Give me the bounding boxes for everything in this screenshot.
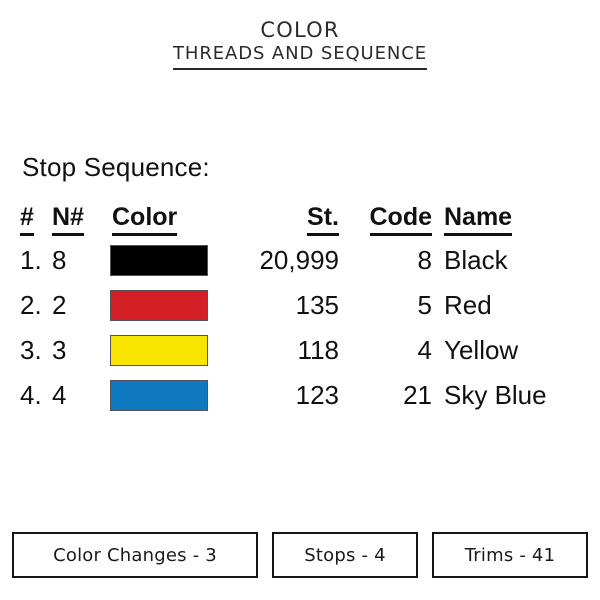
row-name: Sky Blue <box>442 373 600 418</box>
column-header-needle-text: N# <box>52 202 84 236</box>
table-row: 1. 8 20,999 8 Black <box>0 238 600 283</box>
stat-box-color-changes: Color Changes - 3 <box>12 532 258 578</box>
row-color-cell <box>110 283 220 328</box>
row-color-cell <box>110 328 220 373</box>
page-subtitle: THREADS AND SEQUENCE <box>173 44 427 65</box>
row-code: 21 <box>342 373 442 418</box>
row-color-cell <box>110 373 220 418</box>
color-swatch <box>110 290 208 321</box>
summary-stats: Color Changes - 3 Stops - 4 Trims - 41 <box>12 532 588 578</box>
color-swatch <box>110 335 208 366</box>
column-header-color-text: Color <box>112 202 177 236</box>
color-swatch <box>110 245 208 276</box>
row-name: Red <box>442 283 600 328</box>
column-header-stitches-text: St. <box>307 202 339 236</box>
column-header-index-text: # <box>20 202 34 236</box>
row-needle: 8 <box>48 238 110 283</box>
row-color-cell <box>110 238 220 283</box>
row-code: 4 <box>342 328 442 373</box>
column-header-index: # <box>0 202 48 238</box>
page-subtitle-underline: THREADS AND SEQUENCE <box>173 44 427 70</box>
stat-box-stops: Stops - 4 <box>272 532 418 578</box>
column-header-stitches: St. <box>220 202 342 238</box>
table-header-row: # N# Color St. Code Name <box>0 202 600 238</box>
page-header: COLOR THREADS AND SEQUENCE <box>0 18 600 70</box>
stop-sequence-label: Stop Sequence: <box>22 152 210 183</box>
row-name: Black <box>442 238 600 283</box>
table-row: 2. 2 135 5 Red <box>0 283 600 328</box>
page-title: COLOR <box>0 18 600 42</box>
row-stitches: 118 <box>220 328 342 373</box>
row-index: 2. <box>0 283 48 328</box>
row-code: 5 <box>342 283 442 328</box>
table-row: 4. 4 123 21 Sky Blue <box>0 373 600 418</box>
row-index: 3. <box>0 328 48 373</box>
stat-box-trims: Trims - 41 <box>432 532 588 578</box>
column-header-color: Color <box>110 202 220 238</box>
row-needle: 4 <box>48 373 110 418</box>
row-index: 4. <box>0 373 48 418</box>
row-needle: 2 <box>48 283 110 328</box>
row-stitches: 135 <box>220 283 342 328</box>
color-swatch <box>110 380 208 411</box>
row-stitches: 20,999 <box>220 238 342 283</box>
column-header-needle: N# <box>48 202 110 238</box>
row-name: Yellow <box>442 328 600 373</box>
column-header-code-text: Code <box>370 202 433 236</box>
row-code: 8 <box>342 238 442 283</box>
column-header-code: Code <box>342 202 442 238</box>
column-header-name: Name <box>442 202 600 238</box>
row-index: 1. <box>0 238 48 283</box>
column-header-name-text: Name <box>444 202 512 236</box>
row-stitches: 123 <box>220 373 342 418</box>
row-needle: 3 <box>48 328 110 373</box>
stop-sequence-table: # N# Color St. Code Name 1. 8 <box>0 202 600 418</box>
table-row: 3. 3 118 4 Yellow <box>0 328 600 373</box>
